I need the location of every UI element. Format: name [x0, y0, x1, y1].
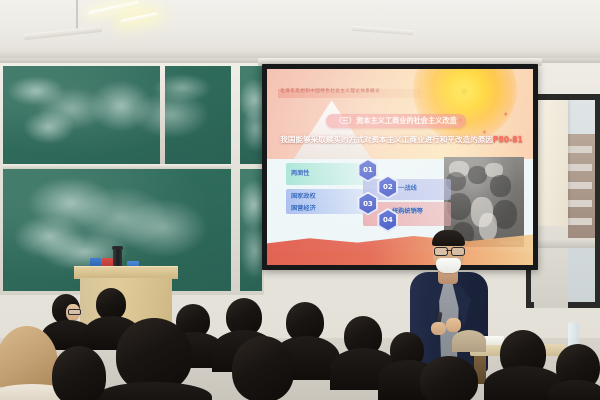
student-head-foreground	[420, 356, 478, 400]
speaker-hand-left	[431, 322, 446, 335]
student-shoulders-tan	[452, 330, 486, 352]
eyeglasses-icon	[68, 309, 81, 315]
speaker-hand-right	[446, 318, 461, 332]
point-label-3b: 国营经济	[291, 203, 316, 212]
eyeglasses-icon	[451, 247, 465, 256]
student-head-foreground	[116, 318, 192, 392]
face-mask-icon	[436, 258, 461, 273]
hexagon-number-1: 01	[363, 166, 373, 174]
course-header-text: 毛泽东思想和中国特色社会主义理论体系概论	[280, 88, 380, 94]
slide-subtitle: 我国能够采取赎买的方式对资本主义工商业进行和平改造的原因P80-81	[280, 134, 522, 145]
chalkboard-panel-top-left	[3, 66, 231, 164]
light-stem	[76, 0, 78, 30]
hexagon-number-3: 03	[363, 200, 373, 208]
classroom-photo: ★ ✦ ✦ ✦ ✦ 毛泽东思想和中国特色社会主义理论体系概论 （三）资本主义工商…	[0, 0, 600, 400]
window-sill	[531, 238, 595, 248]
projector-screen: ★ ✦ ✦ ✦ ✦ 毛泽东思想和中国特色社会主义理论体系概论 （三）资本主义工商…	[267, 69, 533, 265]
building-outside	[565, 134, 595, 246]
chalkboard-mullion	[160, 66, 165, 164]
speaker-hair	[432, 230, 465, 246]
slide-section-title: （三）资本主义工商业的社会主义改造	[326, 114, 466, 128]
star-icon: ★	[459, 85, 469, 98]
eyeglasses-bridge	[446, 250, 451, 251]
point-label-3a: 国家政权	[291, 191, 316, 200]
slide-subtitle-main: 我国能够采取赎买的方式对资本主义工商业进行和平改造的原因	[280, 135, 493, 144]
hexagon-number-2: 02	[383, 183, 393, 191]
eyeglasses-icon	[434, 247, 448, 256]
point-label-1: 两面性	[291, 168, 310, 177]
window-curtain	[534, 100, 568, 226]
hexagon-number-4: 04	[383, 216, 393, 224]
dove-icon: ✦	[502, 110, 509, 119]
presentation-slide: ★ ✦ ✦ ✦ ✦ 毛泽东思想和中国特色社会主义理论体系概论 （三）资本主义工商…	[267, 69, 533, 265]
student-shoulders	[548, 380, 600, 400]
student-head-foreground	[52, 346, 106, 400]
slide-subtitle-ref: P80-81	[493, 135, 523, 144]
chalkboard-panel-bottom-right	[240, 169, 262, 291]
chalkboard-panel-top-right	[240, 66, 262, 164]
student-head-foreground	[232, 336, 294, 400]
